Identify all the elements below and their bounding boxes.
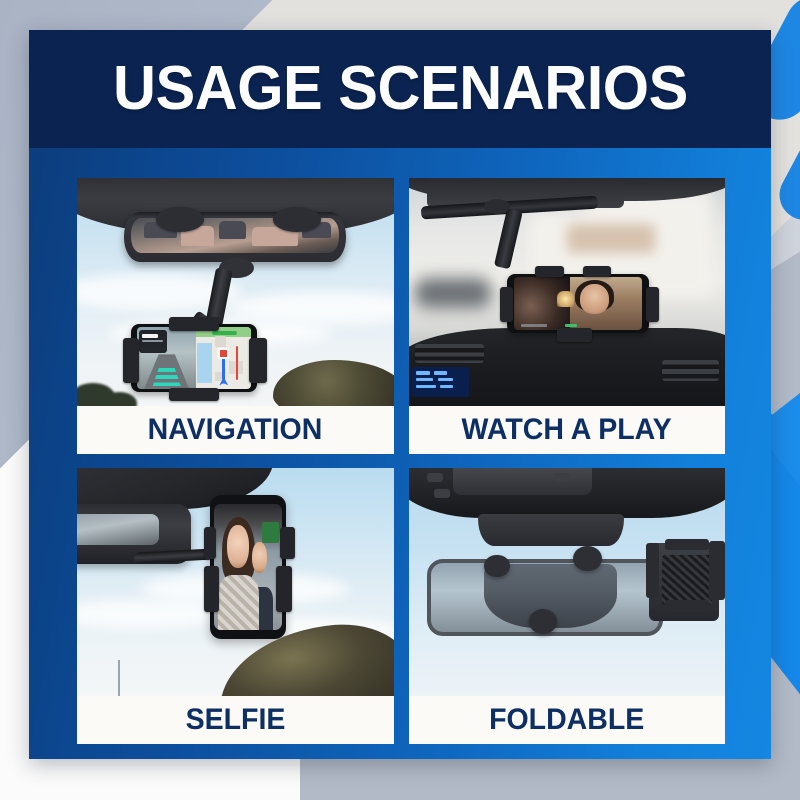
scenario-card-navigation[interactable]: NAVIGATION — [77, 178, 394, 454]
overhead-console — [453, 468, 592, 495]
scenario-label-text: NAVIGATION — [148, 413, 323, 447]
scenario-label-selfie: SELFIE — [77, 696, 394, 744]
holder-prong-right — [709, 541, 725, 600]
selfie-background-sign — [262, 522, 280, 543]
selfie-child-face — [252, 542, 267, 574]
video-progress-bar — [565, 324, 577, 328]
scenario-card-watch-a-play[interactable]: WATCH A PLAY — [409, 178, 726, 454]
mounted-phone-video — [507, 274, 649, 333]
map-hud-subtext — [142, 340, 163, 342]
phone-screen-selfie — [214, 504, 282, 630]
scenario-label-text: SELFIE — [185, 703, 285, 737]
phone-clamp-bottom — [557, 328, 592, 342]
phone-clamp-right — [646, 287, 659, 321]
blurred-sign — [567, 224, 656, 254]
map-camera-view — [137, 327, 196, 389]
phone-holder-grip-pad — [662, 555, 713, 605]
scenario-label-watch-a-play: WATCH A PLAY — [409, 406, 726, 454]
phone-clamp-top — [535, 266, 563, 277]
mounted-phone-selfie — [210, 495, 286, 639]
dashboard-infotainment-screen — [412, 367, 469, 397]
scenario-card-foldable[interactable]: FOLDABLE — [409, 468, 726, 744]
map-block — [215, 336, 226, 347]
dashboard-vent — [415, 344, 485, 362]
phone-clamp-right-lower — [276, 566, 292, 612]
phone-clamp-top — [169, 317, 220, 331]
phone-clamp-right — [280, 527, 296, 559]
scenario-label-text: WATCH A PLAY — [462, 413, 672, 447]
mirror-mount-knob — [156, 207, 203, 232]
map-hud-distance — [142, 334, 158, 338]
phone-clamp-left — [123, 338, 139, 384]
scenario-label-navigation: NAVIGATION — [77, 406, 394, 454]
console-button — [427, 473, 443, 482]
console-button — [434, 489, 450, 498]
holder-prong-bottom — [665, 600, 709, 611]
phone-clamp-top — [583, 266, 611, 277]
scenario-photo-foldable — [409, 468, 726, 696]
map-water — [197, 343, 211, 382]
reflected-seat — [219, 221, 246, 239]
phone-clamp-left — [500, 287, 513, 321]
map-route-green — [212, 331, 237, 335]
selfie-woman-face — [227, 525, 249, 568]
blurred-car — [415, 278, 491, 308]
scenario-grid: NAVIGATION — [77, 178, 725, 730]
mirror-glass — [77, 514, 159, 545]
page-title: USAGE SCENARIOS — [113, 58, 688, 120]
scenario-label-text: FOLDABLE — [489, 703, 644, 737]
selfie-woman-body — [218, 575, 259, 631]
phone-clamp-bottom — [169, 388, 220, 402]
video-actress-face — [580, 284, 608, 314]
map-view — [196, 327, 251, 389]
dashboard-vent — [662, 360, 719, 381]
phone-clamp-left — [204, 527, 217, 559]
holder-prong-top — [665, 539, 709, 550]
video-subtitle — [521, 324, 547, 328]
console-button — [554, 473, 570, 482]
phone-screen-map — [137, 327, 251, 389]
mount-knob — [573, 546, 601, 571]
holder-prong-left — [646, 543, 659, 598]
utility-pole — [118, 660, 120, 696]
video-lamp — [557, 291, 574, 307]
phone-screen-video — [514, 277, 642, 330]
scenario-label-foldable: FOLDABLE — [409, 696, 726, 744]
mounted-phone-navigation — [131, 324, 258, 392]
scenario-photo-watch-a-play — [409, 178, 726, 406]
title-bar: USAGE SCENARIOS — [29, 30, 771, 148]
phone-clamp-right — [249, 338, 266, 384]
infographic-card: USAGE SCENARIOS — [29, 30, 771, 759]
scenario-grid-frame: NAVIGATION — [29, 148, 771, 759]
roadside-tree — [102, 392, 137, 406]
map-destination-pin — [218, 348, 229, 359]
mirror-shroud — [478, 514, 624, 546]
phone-clamp-left-lower — [204, 566, 220, 612]
scenario-photo-navigation — [77, 178, 394, 406]
scenario-photo-selfie — [77, 468, 394, 696]
map-hud-panel — [139, 330, 166, 352]
mount-knob — [484, 555, 509, 578]
scenario-card-selfie[interactable]: SELFIE — [77, 468, 394, 744]
mirror-mount-knob — [273, 207, 320, 232]
